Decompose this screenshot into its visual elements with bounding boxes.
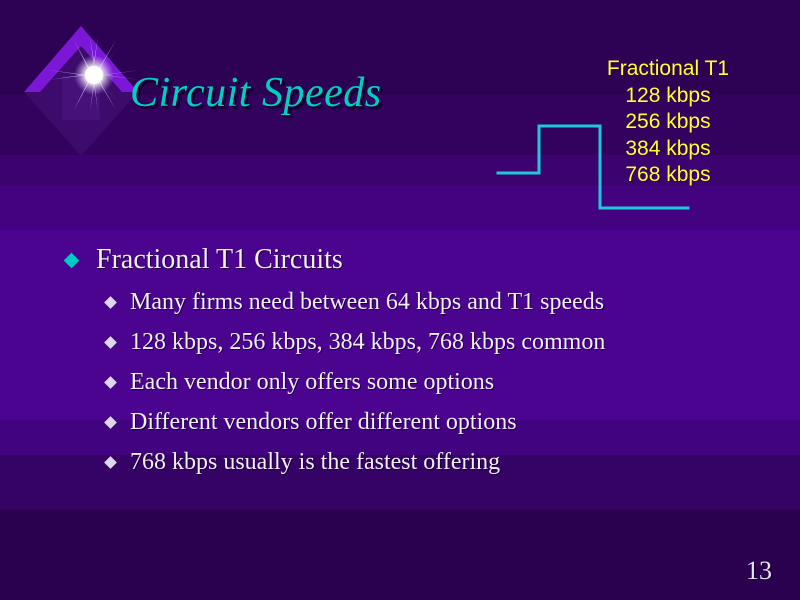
slide-body: Fractional T1 Circuits Many firms need b… [60,243,760,487]
diamond-star-logo [18,18,144,158]
bullet-text: 768 kbps usually is the fastest offering [130,447,500,478]
background-band [0,510,800,600]
page-number: 13 [746,556,772,586]
bullet-item-level2: Different vendors offer different option… [60,407,760,438]
callout-speed-item: 384 kbps [568,136,768,163]
fractional-t1-callout: Fractional T1 128 kbps 256 kbps 384 kbps… [568,56,768,189]
bullet-text: Fractional T1 Circuits [96,243,343,277]
bullet-text: Many firms need between 64 kbps and T1 s… [130,287,604,318]
callout-speed-item: 768 kbps [568,162,768,189]
diamond-bullet-icon [104,336,117,349]
callout-heading: Fractional T1 [568,56,768,83]
bullet-item-level2: 768 kbps usually is the fastest offering [60,447,760,478]
bullet-item-level2: Each vendor only offers some options [60,367,760,398]
diamond-bullet-icon [104,456,117,469]
bullet-item-level2: Many firms need between 64 kbps and T1 s… [60,287,760,318]
bullet-text: Each vendor only offers some options [130,367,494,398]
diamond-bullet-icon [104,376,117,389]
bullet-item-level1: Fractional T1 Circuits [60,243,760,277]
slide-canvas: Circuit Speeds Fractional T1 128 kbps 25… [0,0,800,600]
bullet-item-level2: 128 kbps, 256 kbps, 384 kbps, 768 kbps c… [60,327,760,358]
page-title: Circuit Speeds [130,69,382,117]
diamond-bullet-icon [104,296,117,309]
diamond-bullet-icon [104,416,117,429]
logo-star-center [85,66,103,84]
bullet-text: Different vendors offer different option… [130,407,517,438]
bullet-text: 128 kbps, 256 kbps, 384 kbps, 768 kbps c… [130,327,605,358]
diamond-bullet-icon [64,253,80,269]
callout-speed-item: 256 kbps [568,109,768,136]
callout-speed-item: 128 kbps [568,83,768,110]
